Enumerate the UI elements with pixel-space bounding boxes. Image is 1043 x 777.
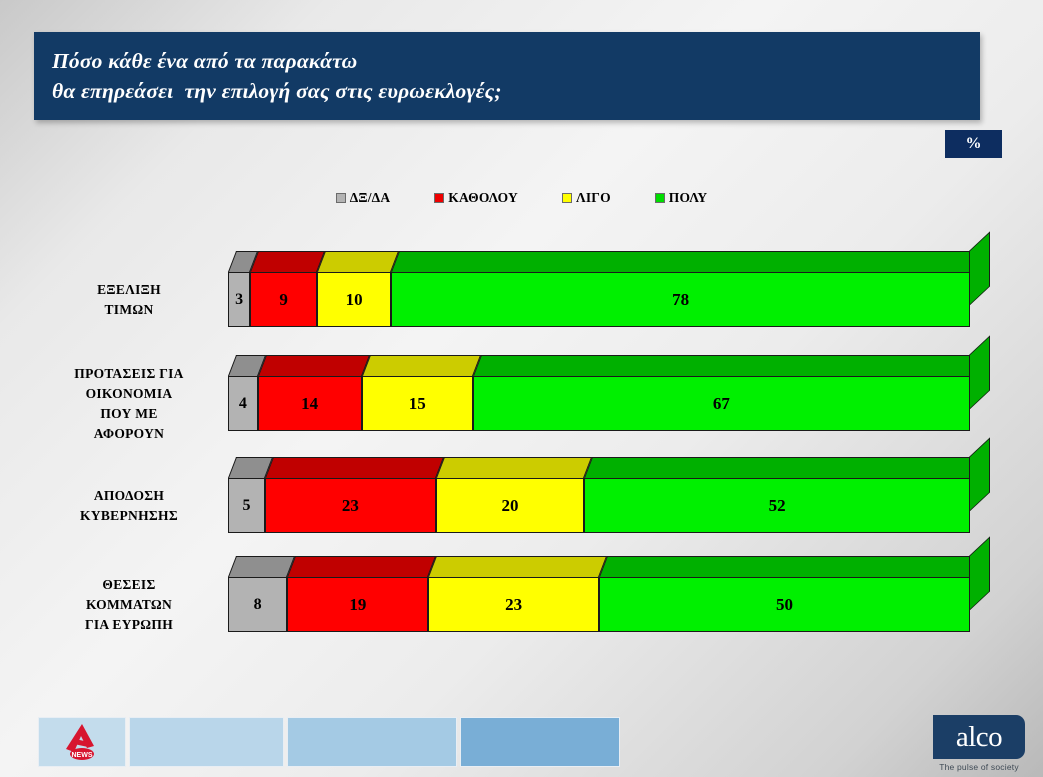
alco-tagline: The pulse of society (939, 762, 1019, 772)
bar-row-category-label: ΕΞΕΛΙΞΗΤΙΜΩΝ (39, 280, 219, 320)
bar-segment-top-face (436, 457, 592, 478)
bar-row-category-label: ΠΡΟΤΑΣΕΙΣ ΓΙΑΟΙΚΟΝΟΜΙΑΠΟΥ ΜΕΑΦΟΡΟΥΝ (39, 364, 219, 444)
bar-row-category-label: ΑΠΟΔΟΣΗΚΥΒΕΡΝΗΣΗΣ (39, 486, 219, 526)
bar-segment-front-face: 14 (258, 376, 362, 431)
footer-block-3 (460, 717, 620, 767)
bar-segment-top-face (265, 457, 444, 478)
category-label-line: ΠΡΟΤΑΣΕΙΣ ΓΙΑ (39, 364, 219, 384)
category-label-line: ΚΥΒΕΡΝΗΣΗΣ (39, 506, 219, 526)
bar-segment-ΚΑΘΟΛΟΥ[interactable]: 9 (250, 272, 317, 327)
bar-segment-front-face: 4 (228, 376, 258, 431)
bar-segment-top-face (428, 556, 607, 577)
bar-segment-ΚΑΘΟΛΟΥ[interactable]: 19 (287, 577, 428, 632)
category-label-line: ΤΙΜΩΝ (39, 300, 219, 320)
bar-segment-top-face (362, 355, 481, 376)
bar-segment-top-face (317, 251, 399, 272)
bar-row: ΑΠΟΔΟΣΗΚΥΒΕΡΝΗΣΗΣ5232052 (0, 457, 1043, 533)
bar-value-label: 23 (505, 595, 522, 615)
percent-unit-badge: % (945, 130, 1002, 158)
bar-segment-top-face (473, 355, 978, 376)
legend-swatch-icon (434, 193, 444, 203)
bar-segment-front-face: 50 (599, 577, 970, 632)
category-label-line: ΠΟΥ ΜΕ (39, 404, 219, 424)
bar-value-label: 14 (301, 394, 318, 414)
category-label-line: ΓΙΑ ΕΥΡΩΠΗ (39, 615, 219, 635)
bar-value-label: 23 (342, 496, 359, 516)
bar-value-label: 52 (769, 496, 786, 516)
alco-wordmark: alco (956, 723, 1002, 752)
chart-legend: ΔΞ/ΔΑΚΑΘΟΛΟΥΛΙΓΟΠΟΛΥ (0, 190, 1043, 206)
bar-segment-top-face (250, 251, 325, 272)
bar-row: ΠΡΟΤΑΣΕΙΣ ΓΙΑΟΙΚΟΝΟΜΙΑΠΟΥ ΜΕΑΦΟΡΟΥΝ41415… (0, 355, 1043, 431)
legend-item-1[interactable]: ΚΑΘΟΛΟΥ (434, 190, 518, 206)
bar-segment-ΔΞ/ΔΑ[interactable]: 5 (228, 478, 265, 533)
bar-segment-front-face: 9 (250, 272, 317, 327)
bar-segment-front-face: 5 (228, 478, 265, 533)
bar-row-category-label: ΘΕΣΕΙΣΚΟΜΜΑΤΩΝΓΙΑ ΕΥΡΩΠΗ (39, 575, 219, 635)
bar-value-label: 19 (349, 595, 366, 615)
bar-segment-ΛΙΓΟ[interactable]: 23 (428, 577, 599, 632)
title-banner: Πόσο κάθε ένα από τα παρακάτω θα επηρεάσ… (34, 32, 980, 120)
legend-swatch-icon (655, 193, 665, 203)
category-label-line: ΑΦΟΡΟΥΝ (39, 424, 219, 444)
legend-item-label: ΔΞ/ΔΑ (350, 190, 391, 206)
bar-value-label: 50 (776, 595, 793, 615)
stacked-bar: 5232052 (228, 478, 970, 533)
alco-logo-box: alco (933, 715, 1025, 759)
bar-segment-front-face: 19 (287, 577, 428, 632)
bar-segment-top-face (584, 457, 978, 478)
alco-logo: alco The pulse of society (933, 715, 1025, 777)
anews-a-glyph-icon: NEWS (59, 722, 105, 762)
anews-a-icon: NEWS (59, 722, 105, 762)
bar-end-side-face (969, 536, 990, 611)
bar-end-side-face (969, 437, 990, 512)
bar-segment-top-face (228, 556, 295, 577)
bar-segment-top-face (287, 556, 436, 577)
category-label-line: ΕΞΕΛΙΞΗ (39, 280, 219, 300)
bar-segment-front-face: 20 (436, 478, 584, 533)
bar-segment-front-face: 15 (362, 376, 473, 431)
bar-value-label: 3 (235, 291, 243, 309)
legend-swatch-icon (562, 193, 572, 203)
bar-value-label: 8 (254, 596, 262, 614)
bar-value-label: 78 (672, 290, 689, 310)
bar-value-label: 20 (501, 496, 518, 516)
bar-segment-ΛΙΓΟ[interactable]: 10 (317, 272, 391, 327)
bar-value-label: 67 (713, 394, 730, 414)
bar-segment-top-face (258, 355, 370, 376)
bar-segment-front-face: 23 (428, 577, 599, 632)
footer-block-1 (129, 717, 284, 767)
bar-row: ΕΞΕΛΙΞΗΤΙΜΩΝ391078 (0, 251, 1043, 327)
bar-segment-top-face (391, 251, 978, 272)
bar-segment-ΔΞ/ΔΑ[interactable]: 3 (228, 272, 250, 327)
legend-item-3[interactable]: ΠΟΛΥ (655, 190, 708, 206)
footer-bar: NEWS alco The pulse of society (0, 707, 1043, 777)
bar-segment-ΛΙΓΟ[interactable]: 15 (362, 376, 473, 431)
bar-segment-ΠΟΛΥ[interactable]: 50 (599, 577, 970, 632)
bar-end-side-face (969, 335, 990, 410)
bar-end-side-face (969, 231, 990, 306)
bar-segment-ΔΞ/ΔΑ[interactable]: 4 (228, 376, 258, 431)
legend-item-label: ΠΟΛΥ (669, 190, 708, 206)
category-label-line: ΘΕΣΕΙΣ (39, 575, 219, 595)
bar-value-label: 9 (279, 290, 288, 310)
bar-segment-ΠΟΛΥ[interactable]: 52 (584, 478, 970, 533)
bar-segment-front-face: 78 (391, 272, 970, 327)
category-label-line: ΚΟΜΜΑΤΩΝ (39, 595, 219, 615)
bar-value-label: 10 (346, 290, 363, 310)
anews-wordmark-text: NEWS (72, 752, 93, 759)
stacked-bar: 391078 (228, 272, 970, 327)
bar-segment-front-face: 23 (265, 478, 436, 533)
legend-swatch-icon (336, 193, 346, 203)
category-label-line: ΟΙΚΟΝΟΜΙΑ (39, 384, 219, 404)
bar-segment-ΚΑΘΟΛΟΥ[interactable]: 23 (265, 478, 436, 533)
bar-value-label: 4 (239, 395, 247, 413)
bar-row: ΘΕΣΕΙΣΚΟΜΜΑΤΩΝΓΙΑ ΕΥΡΩΠΗ8192350 (0, 556, 1043, 632)
legend-item-label: ΛΙΓΟ (576, 190, 611, 206)
anews-logo: NEWS (38, 717, 126, 767)
stacked-bar: 8192350 (228, 577, 970, 632)
stacked-bar-chart: ΕΞΕΛΙΞΗΤΙΜΩΝ391078ΠΡΟΤΑΣΕΙΣ ΓΙΑΟΙΚΟΝΟΜΙΑ… (0, 218, 1043, 638)
page-title-line-1: Πόσο κάθε ένα από τα παρακάτω (52, 46, 980, 76)
bar-segment-front-face: 10 (317, 272, 391, 327)
bar-segment-ΚΑΘΟΛΟΥ[interactable]: 14 (258, 376, 362, 431)
bar-value-label: 5 (243, 497, 251, 515)
page-title-line-2: θα επηρεάσει την επιλογή σας στις ευρωεκ… (52, 76, 980, 106)
bar-segment-front-face: 67 (473, 376, 970, 431)
bar-segment-top-face (599, 556, 978, 577)
footer-block-2 (287, 717, 457, 767)
bar-segment-ΛΙΓΟ[interactable]: 20 (436, 478, 584, 533)
bar-segment-ΠΟΛΥ[interactable]: 67 (473, 376, 970, 431)
category-label-line: ΑΠΟΔΟΣΗ (39, 486, 219, 506)
bar-segment-front-face: 3 (228, 272, 250, 327)
bar-segment-ΠΟΛΥ[interactable]: 78 (391, 272, 970, 327)
bar-value-label: 15 (409, 394, 426, 414)
bar-segment-front-face: 52 (584, 478, 970, 533)
legend-item-0[interactable]: ΔΞ/ΔΑ (336, 190, 391, 206)
bar-segment-front-face: 8 (228, 577, 287, 632)
legend-item-label: ΚΑΘΟΛΟΥ (448, 190, 518, 206)
legend-item-2[interactable]: ΛΙΓΟ (562, 190, 611, 206)
bar-segment-ΔΞ/ΔΑ[interactable]: 8 (228, 577, 287, 632)
stacked-bar: 4141567 (228, 376, 970, 431)
